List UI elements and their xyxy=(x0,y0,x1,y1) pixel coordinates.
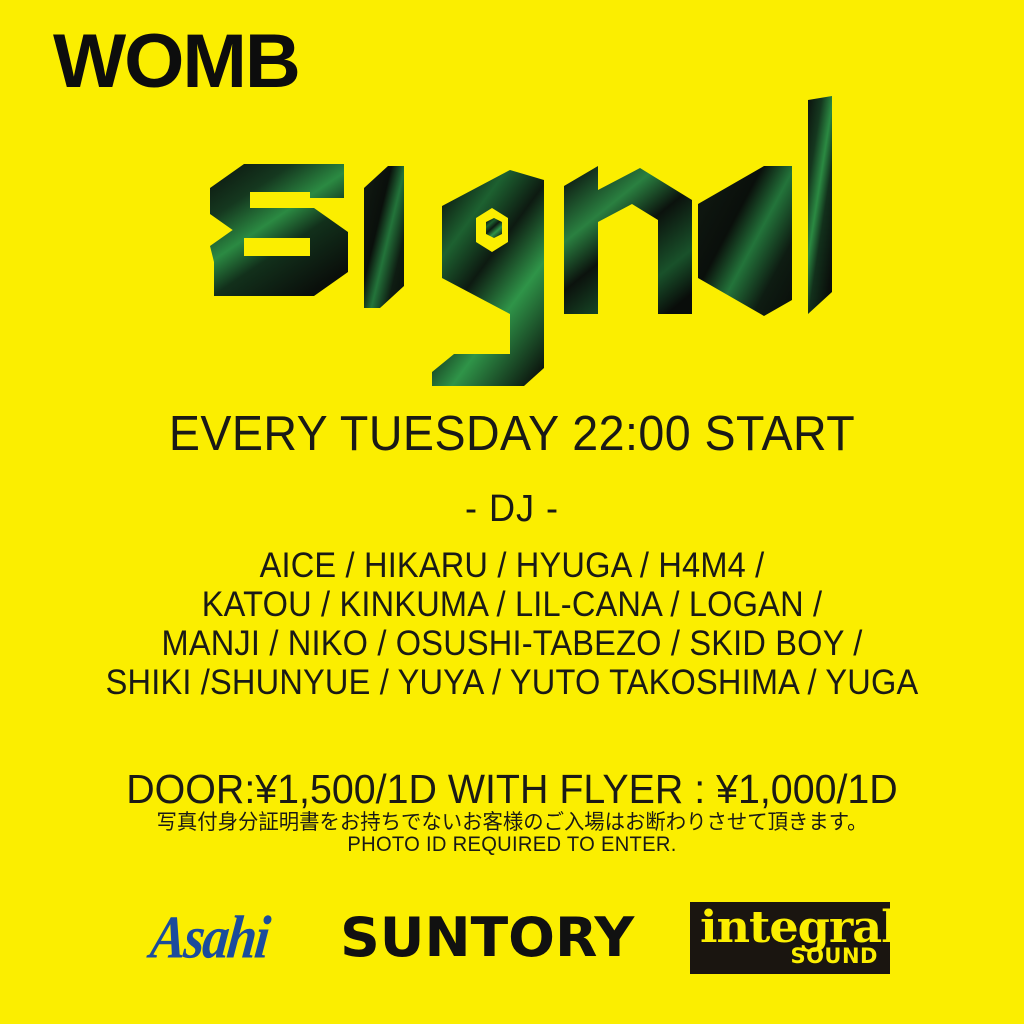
photo-id-notice-japanese: 写真付身分証明書をお持ちでないお客様のご入場はお断わりさせて頂きます。 xyxy=(15,806,1008,836)
dj-lineup-line: MANJI / NIKO / OSUSHI-TABEZO / SKID BOY … xyxy=(36,624,988,663)
suntory-wordmark: SUNTORY xyxy=(340,911,634,965)
dj-lineup-list: AICE / HIKARU / HYUGA / H4M4 / KATOU / K… xyxy=(36,546,988,702)
sponsor-logo-row: Asahi SUNTORY integral SOUND xyxy=(0,888,1024,988)
photo-id-notice-english: PHOTO ID REQUIRED TO ENTER. xyxy=(20,833,1003,857)
dj-section-header: - DJ - xyxy=(26,488,999,531)
signal-letter-g xyxy=(432,170,544,386)
signal-logo-artwork xyxy=(192,96,832,386)
asahi-sponsor-logo: Asahi xyxy=(134,908,284,968)
suntory-sponsor-logo: SUNTORY xyxy=(356,907,618,969)
signal-letter-n xyxy=(564,166,692,314)
asahi-wordmark: Asahi xyxy=(147,908,270,969)
event-flyer: WOMB xyxy=(0,0,1024,1024)
signal-letter-i xyxy=(364,166,404,308)
integral-sound-sponsor-logo: integral SOUND xyxy=(690,902,890,974)
signal-event-logo xyxy=(0,96,1024,396)
signal-letter-a xyxy=(698,166,792,316)
womb-venue-logo: WOMB xyxy=(53,24,299,100)
dj-lineup-line: KATOU / KINKUMA / LIL-CANA / LOGAN / xyxy=(36,585,988,624)
signal-letter-s xyxy=(210,164,348,296)
dj-lineup-line: AICE / HIKARU / HYUGA / H4M4 / xyxy=(36,546,988,585)
signal-letter-g-pupil xyxy=(486,218,502,238)
dj-lineup-line: SHIKI /SHUNYUE / YUYA / YUTO TAKOSHIMA /… xyxy=(36,663,988,702)
integral-sound-subtitle: SOUND xyxy=(790,946,878,967)
signal-letter-l xyxy=(808,96,832,314)
event-tagline: EVERY TUESDAY 22:00 START xyxy=(26,406,999,462)
